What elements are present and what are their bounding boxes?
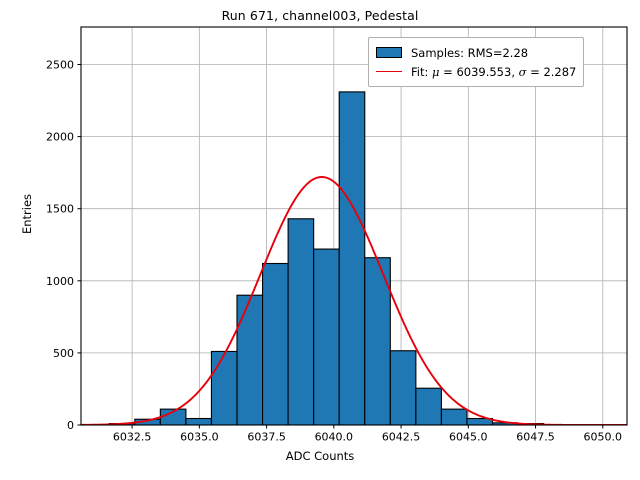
- histogram-bar: [288, 219, 314, 425]
- histogram-bars: [109, 92, 543, 425]
- legend-fit-sigma-symbol: σ: [519, 65, 527, 79]
- histogram-bar: [441, 409, 467, 425]
- y-axis-label: Entries: [20, 154, 34, 274]
- legend-item-samples: Samples: RMS=2.28: [376, 43, 576, 62]
- svg-text:6040.0: 6040.0: [315, 431, 354, 444]
- histogram-bar: [263, 263, 289, 425]
- svg-text:6042.5: 6042.5: [382, 431, 421, 444]
- legend-fit-mu-symbol: μ: [432, 65, 439, 79]
- y-tick-labels: 05001000150020002500: [46, 58, 74, 432]
- svg-text:1000: 1000: [46, 275, 74, 288]
- legend-fit-sigma-value: = 2.287: [527, 65, 577, 79]
- legend-label-samples: Samples: RMS=2.28: [411, 46, 528, 60]
- histogram-bar: [390, 351, 416, 425]
- legend-patch-icon: [376, 47, 402, 58]
- svg-text:1500: 1500: [46, 203, 74, 216]
- x-axis-label: ADC Counts: [0, 449, 640, 463]
- svg-text:6047.5: 6047.5: [516, 431, 555, 444]
- legend-box: Samples: RMS=2.28 Fit: μ = 6039.553, σ =…: [368, 37, 584, 87]
- svg-text:6037.5: 6037.5: [247, 431, 286, 444]
- legend-item-fit: Fit: μ = 6039.553, σ = 2.287: [376, 62, 576, 81]
- legend-line-icon: [376, 66, 402, 77]
- histogram-bar: [186, 419, 212, 425]
- legend-label-fit: Fit: μ = 6039.553, σ = 2.287: [411, 65, 576, 79]
- svg-text:500: 500: [53, 347, 74, 360]
- svg-text:6035.0: 6035.0: [180, 431, 219, 444]
- histogram-bar: [339, 92, 365, 425]
- histogram-bar: [237, 295, 263, 425]
- legend-fit-mu-value: = 6039.553,: [440, 65, 519, 79]
- histogram-bar: [211, 351, 237, 425]
- svg-text:2500: 2500: [46, 58, 74, 71]
- svg-text:0: 0: [67, 419, 74, 432]
- x-tick-labels: 6032.56035.06037.56040.06042.56045.06047…: [113, 431, 622, 444]
- legend-fit-prefix: Fit:: [411, 65, 432, 79]
- svg-text:6050.0: 6050.0: [584, 431, 623, 444]
- histogram-bar: [314, 249, 340, 425]
- svg-text:6032.5: 6032.5: [113, 431, 152, 444]
- histogram-bar: [416, 388, 442, 425]
- svg-text:6045.0: 6045.0: [449, 431, 488, 444]
- figure-canvas: Run 671, channel003, Pedestal 6032.56035…: [0, 0, 640, 480]
- svg-text:2000: 2000: [46, 131, 74, 144]
